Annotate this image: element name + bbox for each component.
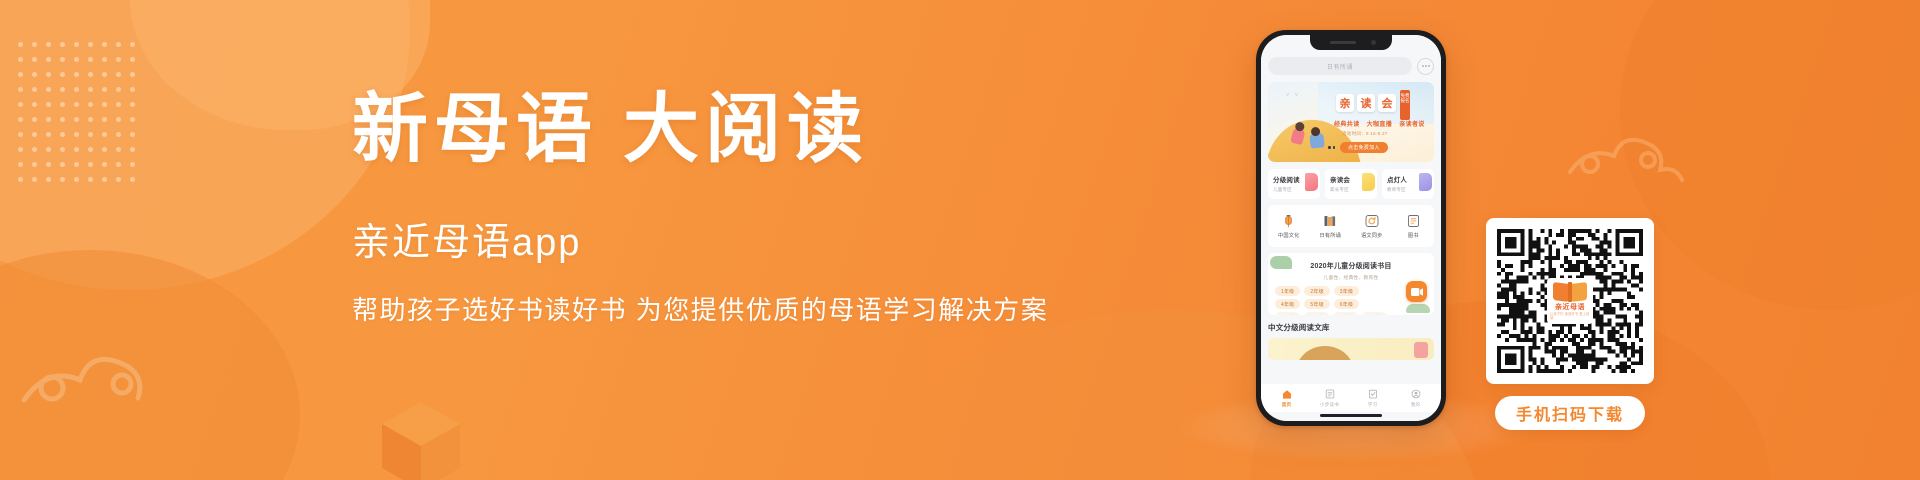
brand-name: 亲近母语 bbox=[1555, 304, 1585, 311]
leaf-decoration bbox=[1406, 304, 1430, 313]
quick-entry-daily-recitation[interactable]: 日有所诵 bbox=[1310, 213, 1352, 239]
grade-row: 1年级 2年级 3年级 bbox=[1275, 286, 1427, 296]
hero-subtitle-item: 经典共读 bbox=[1334, 119, 1360, 128]
tab-study[interactable]: 学习 bbox=[1351, 389, 1394, 408]
birds-icon: ᐯ ᐯ bbox=[1286, 92, 1300, 98]
grade-pill[interactable]: 3年级 bbox=[1334, 286, 1359, 296]
quick-entry-label: 语文同步 bbox=[1361, 232, 1383, 239]
quick-icon-row: 中国文化 日有所诵 bbox=[1268, 205, 1434, 247]
tab-reading[interactable]: 小步读书 bbox=[1308, 389, 1351, 408]
hero-title: 亲 读 会 bbox=[1336, 94, 1396, 112]
library-arc-decoration bbox=[1296, 346, 1354, 360]
grade-pill[interactable]: 1年级 bbox=[1275, 286, 1300, 296]
tab-profile[interactable]: 我的 bbox=[1394, 389, 1437, 408]
age-pill[interactable]: 0-3岁 bbox=[1275, 312, 1300, 315]
user-icon bbox=[1410, 389, 1421, 400]
grade-row: 4年级 5年级 6年级 bbox=[1275, 299, 1427, 309]
quick-entry-chinese-culture[interactable]: 中国文化 bbox=[1268, 213, 1310, 239]
quick-entry-label: 中国文化 bbox=[1278, 232, 1300, 239]
grade-pill[interactable]: 4年级 bbox=[1275, 299, 1300, 309]
phone-mockup: 日有所诵 ᐯ ᐯ 亲 读 会 免费报名 bbox=[1256, 30, 1446, 426]
search-placeholder: 日有所诵 bbox=[1327, 62, 1353, 71]
hero-child-illustration bbox=[1309, 132, 1324, 148]
cloud-icon bbox=[1419, 173, 1432, 191]
cloud-swirl-icon bbox=[18, 330, 168, 420]
age-pill[interactable]: 5-6岁 bbox=[1362, 312, 1387, 315]
booklist-title: 2020年儿童分级阅读书目 bbox=[1275, 261, 1427, 271]
qr-download-block: 亲近母语 让孩子们 读到好书 爱上阅读 手机扫码下载 bbox=[1486, 218, 1654, 430]
checklist-icon bbox=[1367, 389, 1378, 400]
hero-ribbon-badge: 免费报名 bbox=[1400, 90, 1410, 120]
tab-label: 首页 bbox=[1282, 402, 1292, 408]
phone-screen: 日有所诵 ᐯ ᐯ 亲 读 会 免费报名 bbox=[1261, 35, 1441, 421]
cube-decoration bbox=[378, 396, 464, 480]
banner-copy: 新母语 大阅读 亲近母语app 帮助孩子选好书读好书 为您提供优质的母语学习解决… bbox=[352, 88, 1052, 327]
more-icon[interactable] bbox=[1417, 58, 1434, 75]
tab-label: 学习 bbox=[1368, 402, 1378, 408]
hero-title-char: 亲 bbox=[1336, 94, 1354, 112]
bottom-tab-bar: 首页 小步读书 bbox=[1261, 384, 1441, 412]
qr-code: 亲近母语 让孩子们 读到好书 爱上阅读 bbox=[1497, 229, 1643, 373]
library-card[interactable] bbox=[1268, 338, 1434, 360]
app-search-row: 日有所诵 bbox=[1268, 57, 1434, 75]
hero-join-button[interactable]: 点击免费加入 bbox=[1340, 142, 1388, 153]
hero-subtitle-item: 亲读者说 bbox=[1399, 119, 1425, 128]
book-icon bbox=[1406, 213, 1421, 228]
hero-subtitle: 经典共读 大咖直播 亲读者说 bbox=[1334, 119, 1425, 128]
grade-pill[interactable]: 5年级 bbox=[1304, 299, 1329, 309]
scan-download-button[interactable]: 手机扫码下载 bbox=[1495, 396, 1645, 430]
front-camera bbox=[1371, 40, 1376, 45]
cloud-swirl-icon bbox=[1560, 120, 1690, 190]
hero-date: 活动时间：9.16-9.27 bbox=[1342, 131, 1388, 137]
hero-subtitle-item: 大咖直播 bbox=[1367, 119, 1393, 128]
booklist-subtitle: 儿童性、经典性、教育性 bbox=[1275, 274, 1427, 281]
grade-pill[interactable]: 2年级 bbox=[1304, 286, 1329, 296]
grade-pill[interactable]: 6年级 bbox=[1334, 299, 1359, 309]
age-pill[interactable]: 3-4岁 bbox=[1304, 312, 1329, 315]
leaf-decoration bbox=[1270, 256, 1292, 269]
list-icon bbox=[1324, 389, 1335, 400]
age-row: 0-3岁 3-4岁 4-5岁 5-6岁 bbox=[1275, 312, 1427, 315]
hero-banner-card[interactable]: ᐯ ᐯ 亲 读 会 免费报名 经典共读 大咖直播 亲读者说 活动时间：9.16-… bbox=[1268, 82, 1434, 162]
zone-card-graded-reading[interactable]: 分级阅读 儿童专区 bbox=[1268, 169, 1320, 199]
promo-banner: 新母语 大阅读 亲近母语app 帮助孩子选好书读好书 为您提供优质的母语学习解决… bbox=[0, 0, 1920, 480]
booklist-card: 2020年儿童分级阅读书目 儿童性、经典性、教育性 1年级 2年级 3年级 4年… bbox=[1268, 253, 1434, 315]
books-icon bbox=[1323, 213, 1338, 228]
open-book-icon bbox=[1553, 282, 1587, 302]
bookmark-icon bbox=[1305, 173, 1318, 191]
hero-title-char: 读 bbox=[1357, 94, 1375, 112]
bookmark-icon bbox=[1362, 173, 1375, 191]
home-icon bbox=[1281, 389, 1292, 400]
tab-label: 我的 bbox=[1411, 402, 1421, 408]
qr-code-card: 亲近母语 让孩子们 读到好书 爱上阅读 bbox=[1486, 218, 1654, 384]
brand-tagline: 让孩子们 读到好书 爱上阅读 bbox=[1550, 313, 1590, 319]
app-home-screen: 日有所诵 ᐯ ᐯ 亲 读 会 免费报名 bbox=[1261, 35, 1441, 421]
library-block-decoration bbox=[1414, 342, 1428, 358]
banner-description: 帮助孩子选好书读好书 为您提供优质的母语学习解决方案 bbox=[352, 290, 1052, 327]
refresh-icon bbox=[1364, 213, 1379, 228]
earpiece-speaker bbox=[1330, 41, 1356, 44]
home-indicator bbox=[1320, 414, 1382, 417]
brand-logo: 亲近母语 让孩子们 读到好书 爱上阅读 bbox=[1547, 278, 1593, 324]
zone-card-teacher[interactable]: 点灯人 教师专区 bbox=[1382, 169, 1434, 199]
zone-card-parent-club[interactable]: 亲读会 家长专区 bbox=[1325, 169, 1377, 199]
age-pill[interactable]: 4-5岁 bbox=[1333, 312, 1358, 315]
page-title: 新母语 大阅读 bbox=[352, 88, 1052, 173]
lantern-icon bbox=[1281, 213, 1296, 228]
quick-entry-books[interactable]: 图书 bbox=[1393, 213, 1435, 239]
tab-label: 小步读书 bbox=[1320, 402, 1339, 408]
zone-card-list: 分级阅读 儿童专区 亲读会 家长专区 点灯人 教师专区 bbox=[1268, 169, 1434, 199]
video-play-icon[interactable] bbox=[1406, 281, 1427, 302]
quick-entry-label: 图书 bbox=[1408, 232, 1419, 239]
search-input[interactable]: 日有所诵 bbox=[1268, 57, 1412, 75]
phone-notch bbox=[1310, 35, 1392, 50]
hero-title-char: 会 bbox=[1378, 94, 1396, 112]
quick-entry-chinese-sync[interactable]: 语文同步 bbox=[1351, 213, 1393, 239]
tab-home[interactable]: 首页 bbox=[1265, 389, 1308, 408]
carousel-dots[interactable] bbox=[1328, 146, 1335, 149]
dot-grid-decoration bbox=[18, 42, 144, 192]
quick-entry-label: 日有所诵 bbox=[1319, 232, 1341, 239]
library-section-title: 中文分级阅读文库 bbox=[1268, 322, 1434, 333]
app-name: 亲近母语app bbox=[352, 211, 1052, 266]
grade-filter-rows: 1年级 2年级 3年级 4年级 5年级 6年级 0-3岁 3-4岁 4- bbox=[1275, 286, 1427, 315]
